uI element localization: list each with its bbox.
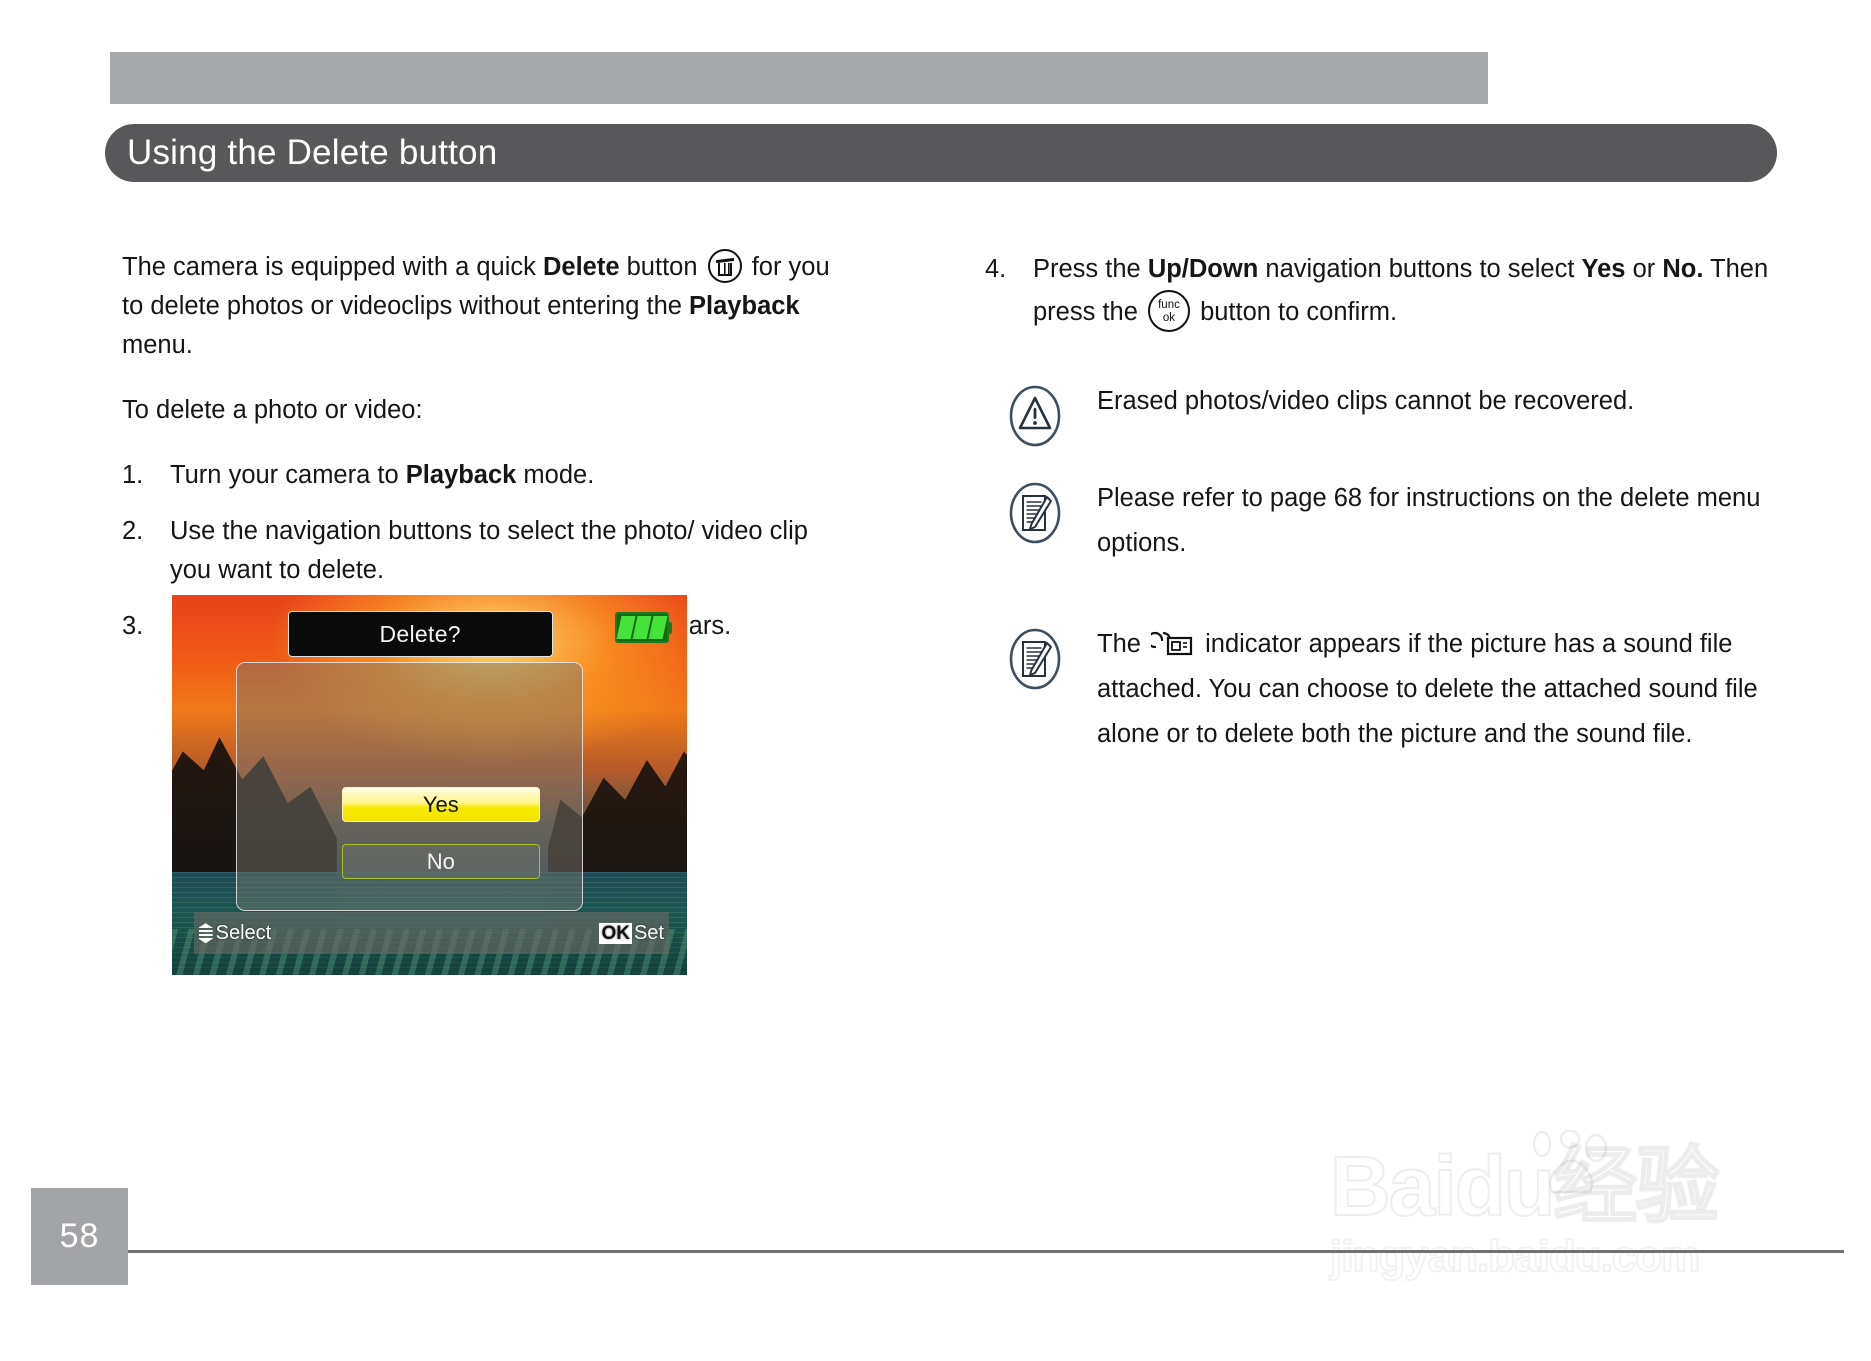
baidu-watermark: Baidu经验 jingyan.baidu.com [1330, 1140, 1800, 1310]
lcd-dialog-title-bar: Delete? [288, 611, 553, 657]
page-number: 58 [60, 1217, 100, 1256]
lcd-status-bar: Select OK Set [194, 912, 669, 954]
step-2-number: 2. [122, 512, 162, 551]
battery-bar [648, 616, 667, 639]
lcd-status-left-label: Select [216, 922, 272, 945]
battery-full-icon [615, 612, 669, 643]
note-sound-file-text: The indicator appears if the picture has… [1097, 622, 1785, 757]
step-1-text-part2: mode. [516, 461, 594, 489]
manual-page: { "page": { "number": "58", "title": "Us… [0, 0, 1871, 1361]
note-sound-file: The indicator appears if the picture has… [985, 622, 1785, 757]
func-icon-top-label: func [1150, 299, 1188, 311]
delete-steps-list-continued: 4.Press the Up/Down navigation buttons t… [985, 248, 1785, 333]
intro-bold-delete: Delete [543, 253, 620, 281]
step-1-bold: Playback [406, 461, 517, 489]
watermark-sub-text: jingyan.baidu.com [1330, 1232, 1800, 1282]
lcd-status-right-label: Set [634, 922, 664, 945]
note-warning: Erased photos/video clips cannot be reco… [985, 379, 1785, 424]
intro-text-part4: menu. [122, 331, 193, 359]
step-4-text-part3: or [1625, 255, 1662, 283]
footer-divider [128, 1250, 1844, 1253]
lead-in-paragraph: To delete a photo or video: [122, 391, 852, 430]
note-warning-text: Erased photos/video clips cannot be reco… [1097, 379, 1785, 424]
note-page-reference-text: Please refer to page 68 for instructions… [1097, 476, 1785, 566]
step-3-number: 3. [122, 607, 162, 646]
header-banner [110, 52, 1488, 104]
step-4-bold-no: No. [1662, 255, 1703, 283]
page-title: Using the Delete button [105, 133, 497, 173]
step-4-bold-updown: Up/Down [1148, 255, 1258, 283]
note-sound-file-suffix: indicator appears if the picture has a s… [1097, 630, 1758, 748]
up-down-navigation-icon [199, 923, 213, 943]
trash-button-icon [708, 249, 742, 283]
intro-bold-playback: Playback [689, 292, 800, 320]
step-1-number: 1. [122, 456, 162, 495]
intro-text-part1: The camera is equipped with a quick [122, 253, 543, 281]
note-icon [1009, 482, 1061, 544]
func-icon-bottom-label: ok [1150, 312, 1188, 324]
lcd-option-no-label: No [427, 849, 455, 875]
step-2-text: Use the navigation buttons to select the… [170, 517, 808, 584]
func-ok-button-icon: funcok [1148, 290, 1190, 332]
watermark-main-text: Baidu经验 [1330, 1140, 1800, 1232]
ok-badge-icon: OK [599, 923, 632, 944]
intro-paragraph: The camera is equipped with a quick Dele… [122, 248, 852, 365]
lcd-option-yes[interactable]: Yes [342, 787, 540, 822]
step-1-text-part1: Turn your camera to [170, 461, 406, 489]
step-4-number: 4. [985, 248, 1025, 290]
baidu-paw-icon [1526, 1130, 1618, 1194]
note-page-reference: Please refer to page 68 for instructions… [985, 476, 1785, 566]
lcd-option-no[interactable]: No [342, 844, 540, 879]
sound-file-indicator-icon [1151, 627, 1195, 653]
intro-text-part2: button [620, 253, 705, 281]
section-title-bar: Using the Delete button [105, 124, 1777, 182]
right-column: 4.Press the Up/Down navigation buttons t… [985, 248, 1785, 791]
delete-confirmation-lcd: Delete? Yes No Select OK Set [169, 592, 690, 978]
warning-icon [1009, 385, 1061, 447]
step-4-bold-yes: Yes [1582, 255, 1626, 283]
lcd-dialog-title: Delete? [380, 621, 461, 648]
note-icon [1009, 628, 1061, 690]
lcd-screen: Delete? Yes No Select OK Set [172, 595, 687, 975]
note-sound-file-prefix: The [1097, 630, 1148, 658]
page-number-box: 58 [31, 1188, 128, 1285]
lcd-status-right: OK Set [599, 922, 664, 945]
lcd-option-yes-label: Yes [423, 792, 459, 818]
lcd-status-left: Select [199, 922, 272, 945]
step-4-text-part2: navigation buttons to select [1258, 255, 1581, 283]
step-4-text-part1: Press the [1033, 255, 1148, 283]
step-1: 1.Turn your camera to Playback mode. [122, 456, 852, 495]
step-4-text-part5: button to confirm. [1193, 298, 1397, 326]
step-4: 4.Press the Up/Down navigation buttons t… [985, 248, 1785, 333]
step-2: 2.Use the navigation buttons to select t… [122, 512, 852, 590]
